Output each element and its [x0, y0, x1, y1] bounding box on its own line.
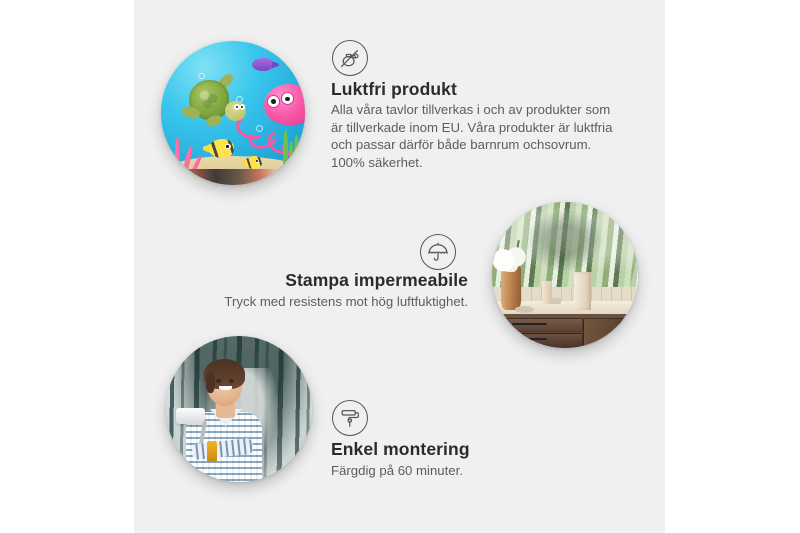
paint-roller-icon: [332, 400, 368, 436]
umbrella-icon: [420, 234, 456, 270]
seaweed-illustration: [282, 130, 299, 173]
ribbed-vase: [501, 266, 521, 310]
woman-with-roller-forest-wallpaper-circle: [166, 336, 312, 482]
feature-description: Tryck med resistens mot hög luftfuktighe…: [152, 293, 468, 311]
eye: [216, 379, 221, 383]
candle: [574, 272, 592, 310]
smile: [219, 386, 232, 390]
eye: [229, 379, 234, 383]
yellow-striped-fish-icon: [245, 156, 262, 169]
white-flowers: [493, 246, 528, 272]
hand-tool: [207, 441, 217, 461]
feature-description: Alla våra tavlor tillverkas i och av pro…: [331, 101, 616, 171]
paint-roller-held: [176, 408, 205, 424]
photo-bottom-band: [161, 169, 305, 185]
feature-title: Enkel montering: [331, 439, 470, 460]
bathroom-green-leaf-wallpaper-circle: [492, 202, 638, 348]
turtle-illustration: [184, 78, 244, 127]
candle: [542, 281, 552, 304]
feature-title: Luktfri produkt: [331, 79, 457, 100]
yellow-striped-fish-icon: [209, 139, 235, 158]
feature-description: Färgdig på 60 minuter.: [331, 462, 463, 480]
feature-title: Stampa impermeabile: [152, 270, 468, 291]
wood-vanity-cabinet: [492, 314, 638, 348]
purple-fish-icon: [252, 58, 274, 71]
no-scent-perfume-bottle-icon: [332, 40, 368, 76]
promo-graphic: Luktfri produkt Alla våra tavlor tillver…: [0, 0, 800, 533]
hair: [204, 359, 245, 388]
underwater-kids-mural-circle: [161, 41, 305, 185]
soap-dish: [515, 306, 534, 313]
